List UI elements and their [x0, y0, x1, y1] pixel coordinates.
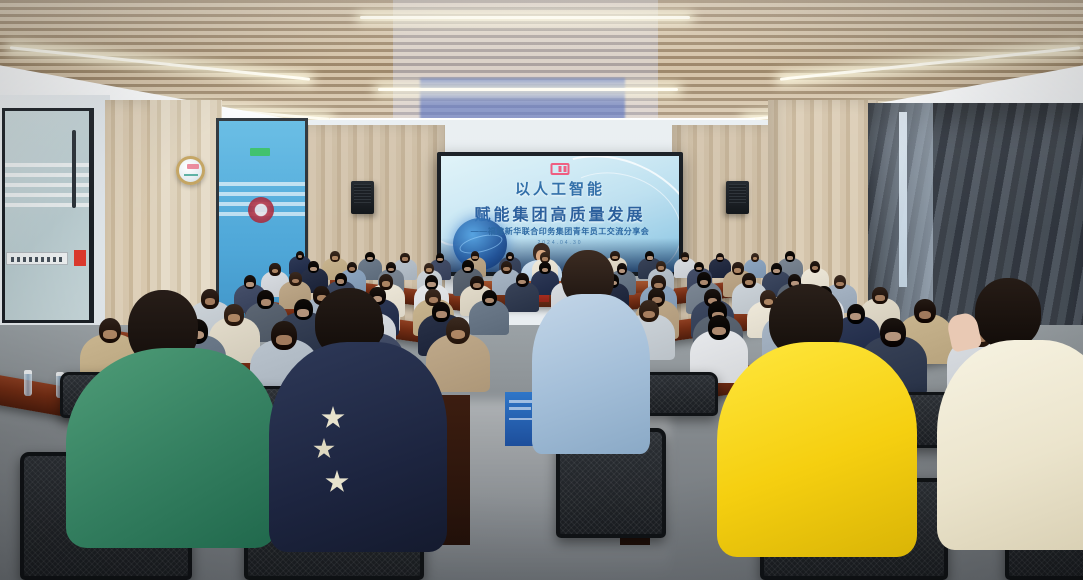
door-notice-sign — [6, 252, 68, 265]
water-bottle — [24, 370, 32, 396]
office-chair[interactable] — [640, 372, 718, 416]
wall-speaker-left — [351, 181, 374, 214]
ceiling-led-strip — [360, 16, 690, 19]
slide-subtitle: ——福建新华联合印务集团青年员工交流分享会 — [441, 226, 679, 237]
slide-date: 2024.04.30 — [441, 240, 679, 246]
slide-title-line1: 以人工智能 — [441, 178, 679, 199]
frosted-glass-door[interactable] — [2, 108, 94, 323]
slide-logo-icon — [551, 163, 570, 175]
ceiling-led-strip — [378, 88, 678, 91]
meeting-room-photo: 以人工智能 赋能集团高质量发展 ——福建新华联合印务集团青年员工交流分享会 20… — [0, 0, 1083, 580]
door-red-placard — [74, 250, 86, 266]
wall-clock-icon — [176, 156, 205, 185]
wall-speaker-right — [726, 181, 749, 214]
door-handle[interactable] — [72, 130, 76, 208]
